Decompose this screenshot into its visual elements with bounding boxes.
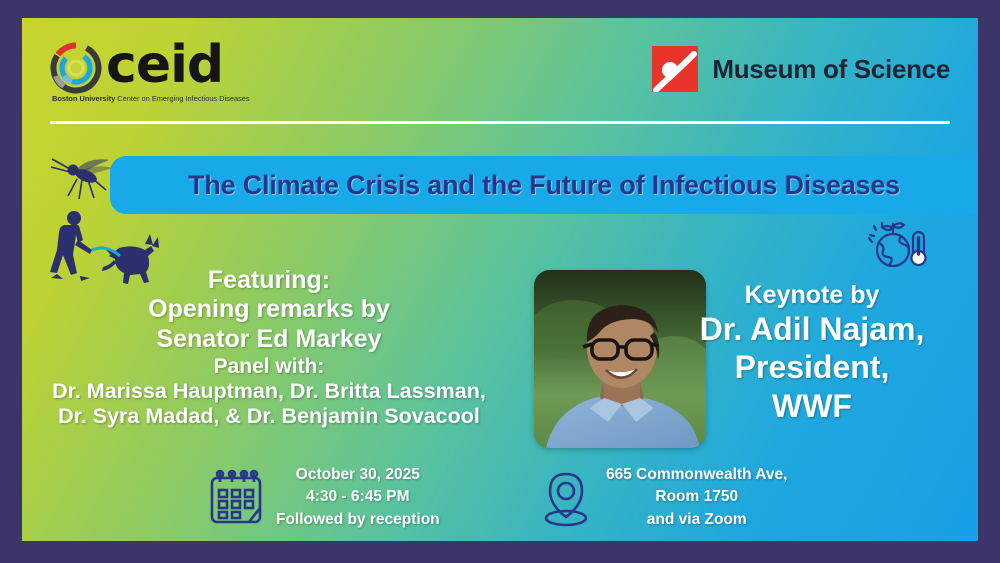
- keynote-speaker-title: President,: [662, 348, 962, 386]
- poster-canvas: ceid Boston University Center on Emergin…: [22, 18, 978, 541]
- event-date-line-1: October 30, 2025: [296, 466, 420, 483]
- event-location-text: 665 Commonwealth Ave, Room 1750 and via …: [606, 464, 787, 531]
- featuring-panelists-line-2: Dr. Syra Madad, & Dr. Benjamin Sovacool: [34, 404, 504, 429]
- keynote-speaker-name: Dr. Adil Najam,: [662, 310, 962, 348]
- event-address-line: 665 Commonwealth Ave,: [606, 466, 787, 483]
- featuring-block: Featuring: Opening remarks by Senator Ed…: [34, 266, 504, 430]
- event-reception-line: Followed by reception: [276, 511, 440, 528]
- event-date-block: October 30, 2025 4:30 - 6:45 PM Followed…: [208, 464, 440, 531]
- ceid-tagline-rest: Center on Emerging Infectious Diseases: [115, 94, 249, 103]
- museum-of-science-comet-logo-icon: [652, 46, 698, 92]
- poster-header: ceid Boston University Center on Emergin…: [22, 18, 978, 118]
- featuring-panelists-line-1: Dr. Marissa Hauptman, Dr. Britta Lassman…: [34, 379, 504, 404]
- featuring-opening-remarks: Opening remarks by: [34, 295, 504, 324]
- museum-of-science-name: Museum of Science: [712, 54, 950, 85]
- event-poster: ceid Boston University Center on Emergin…: [0, 0, 1000, 563]
- keynote-block: Keynote by Dr. Adil Najam, President, WW…: [662, 280, 962, 425]
- ceid-wordmark: ceid: [106, 40, 223, 90]
- event-zoom-line: and via Zoom: [647, 511, 747, 528]
- event-details-row: October 30, 2025 4:30 - 6:45 PM Followed…: [22, 464, 978, 541]
- featuring-speaker-markey: Senator Ed Markey: [34, 325, 504, 354]
- page-title: The Climate Crisis and the Future of Inf…: [188, 170, 900, 201]
- header-divider: [50, 121, 950, 124]
- mosquito-icon: [46, 154, 116, 204]
- title-band: The Climate Crisis and the Future of Inf…: [110, 156, 978, 214]
- calendar-icon: [208, 468, 264, 528]
- event-room-line: Room 1750: [655, 488, 738, 505]
- map-pin-icon: [538, 468, 594, 528]
- museum-of-science-logo: Museum of Science: [652, 46, 950, 92]
- event-date-text: October 30, 2025 4:30 - 6:45 PM Followed…: [276, 464, 440, 531]
- keynote-label: Keynote by: [662, 280, 962, 310]
- event-time-line: 4:30 - 6:45 PM: [306, 488, 409, 505]
- keynote-speaker-org: WWF: [662, 387, 962, 425]
- ceid-tagline-bold: Boston University: [52, 94, 115, 103]
- featuring-heading: Featuring:: [34, 266, 504, 295]
- ceid-ring-logo-icon: [50, 42, 102, 94]
- ceid-logo: ceid: [50, 40, 223, 94]
- globe-thermometer-icon: [868, 214, 930, 270]
- featuring-panel-heading: Panel with:: [34, 355, 504, 380]
- ceid-tagline: Boston University Center on Emerging Inf…: [52, 94, 250, 103]
- event-location-block: 665 Commonwealth Ave, Room 1750 and via …: [538, 464, 787, 531]
